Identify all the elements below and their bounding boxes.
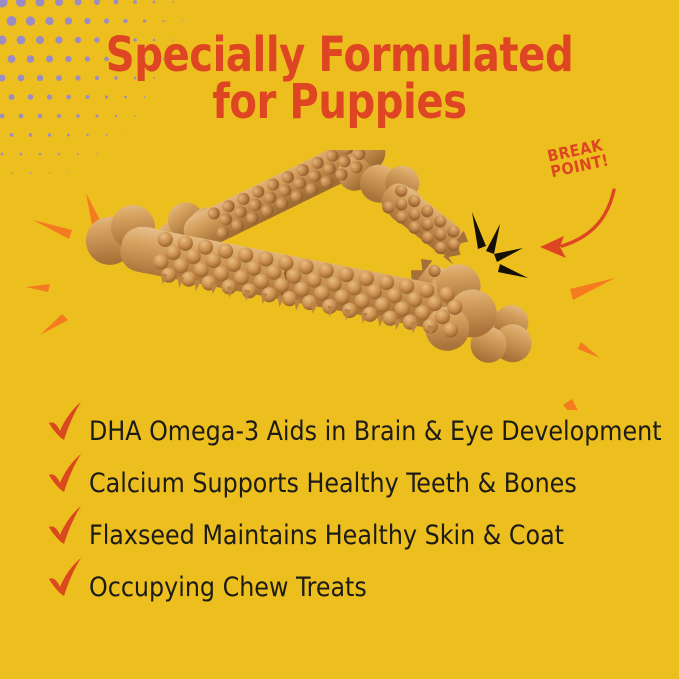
check-mark-icon	[45, 503, 87, 549]
list-item-label: DHA Omega-3 Aids in Brain & Eye Developm…	[89, 416, 662, 447]
headline-line-1: Specially Formulated	[24, 32, 655, 79]
list-item: Occupying Chew Treats	[45, 561, 665, 613]
spark-ray-icon	[26, 193, 101, 335]
list-item-label: Flaxseed Maintains Healthy Skin & Coat	[89, 520, 564, 551]
benefits-list: DHA Omega-3 Aids in Brain & Eye Developm…	[45, 405, 665, 613]
check-mark-icon	[45, 555, 87, 601]
product-feature-poster: Specially Formulated for Puppies	[0, 0, 679, 679]
curved-arrow-icon	[518, 186, 628, 266]
headline-line-2: for Puppies	[24, 79, 655, 126]
list-item: DHA Omega-3 Aids in Brain & Eye Developm…	[45, 405, 665, 457]
list-item-label: Occupying Chew Treats	[89, 572, 367, 603]
list-item: Flaxseed Maintains Healthy Skin & Coat	[45, 509, 665, 561]
list-item: Calcium Supports Healthy Teeth & Bones	[45, 457, 665, 509]
page-title: Specially Formulated for Puppies	[24, 32, 655, 126]
spark-ray-icon	[563, 278, 615, 410]
list-item-label: Calcium Supports Healthy Teeth & Bones	[89, 468, 577, 499]
check-mark-icon	[45, 399, 87, 445]
check-mark-icon	[45, 451, 87, 497]
